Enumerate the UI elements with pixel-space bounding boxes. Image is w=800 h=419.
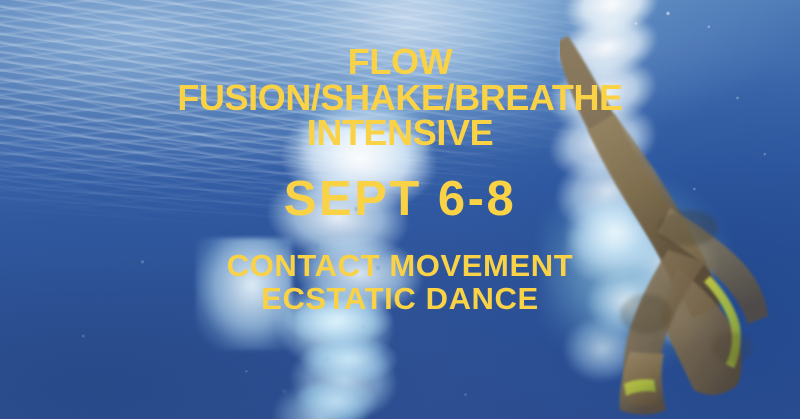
event-poster: FLOW FUSION/SHAKE/BREATHE INTENSIVE SEPT… <box>0 0 800 419</box>
stray-bubbles <box>0 0 800 419</box>
